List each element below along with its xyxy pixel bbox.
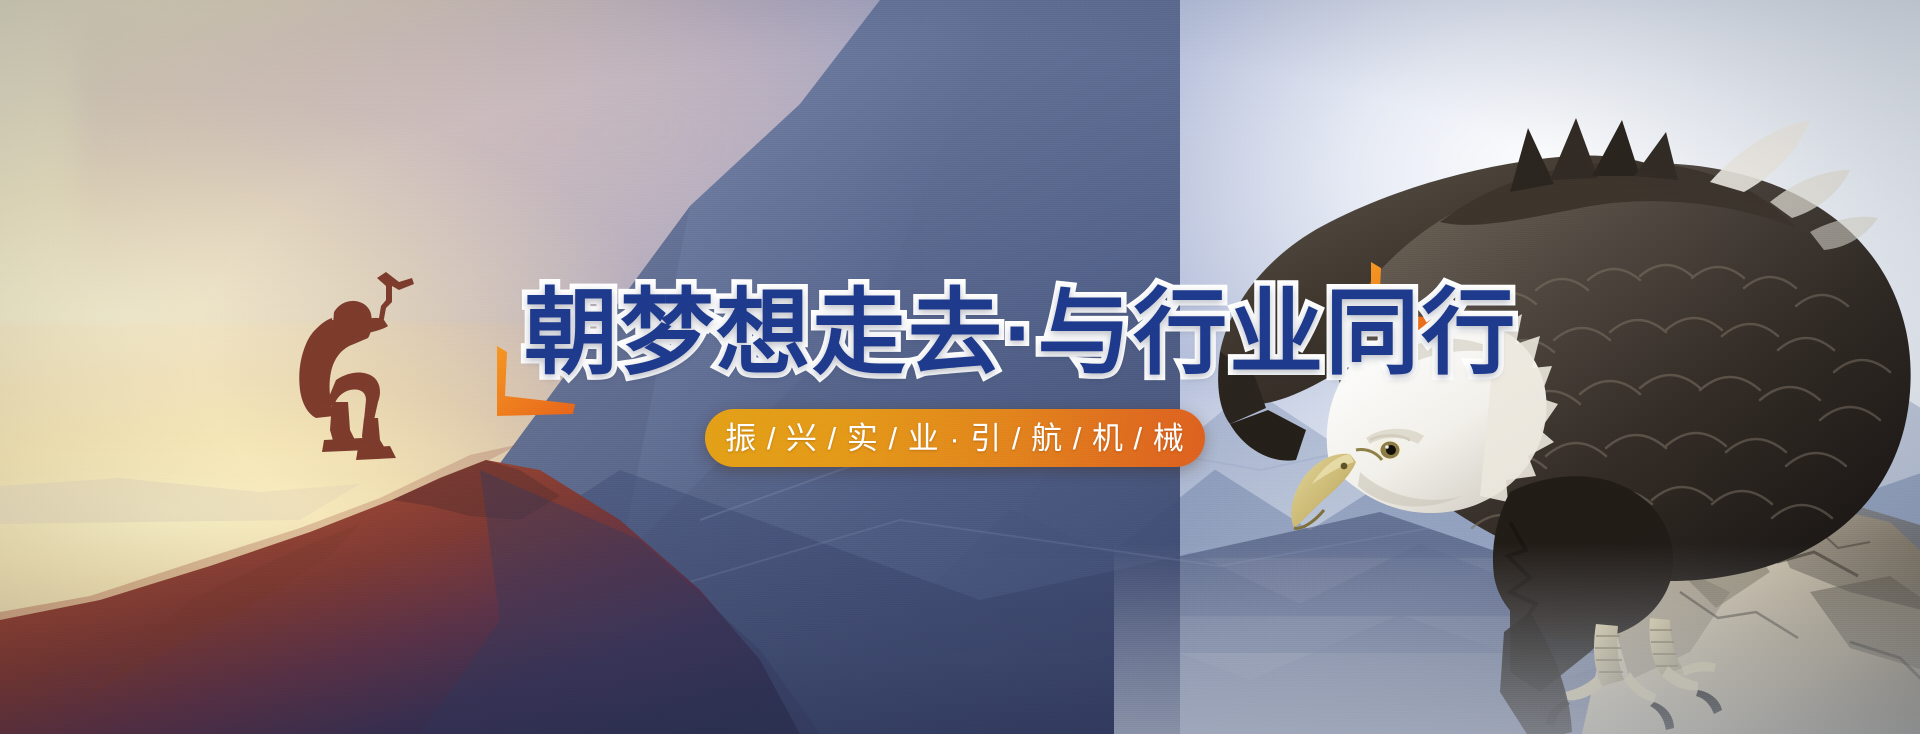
bald-eagle: [1210, 52, 1920, 734]
climber-silhouette: [236, 268, 426, 468]
banner-subtitle-text: 振 / 兴 / 实 / 业 · 引 / 航 / 机 / 械: [725, 423, 1185, 454]
banner-headline: 朝梦想走去·与行业同行: [524, 286, 1517, 380]
hero-banner: 朝梦想走去·与行业同行 振 / 兴 / 实 / 业 · 引 / 航 / 机 / …: [0, 0, 1920, 734]
banner-subtitle-pill: 振 / 兴 / 实 / 业 · 引 / 航 / 机 / 械: [705, 409, 1205, 467]
